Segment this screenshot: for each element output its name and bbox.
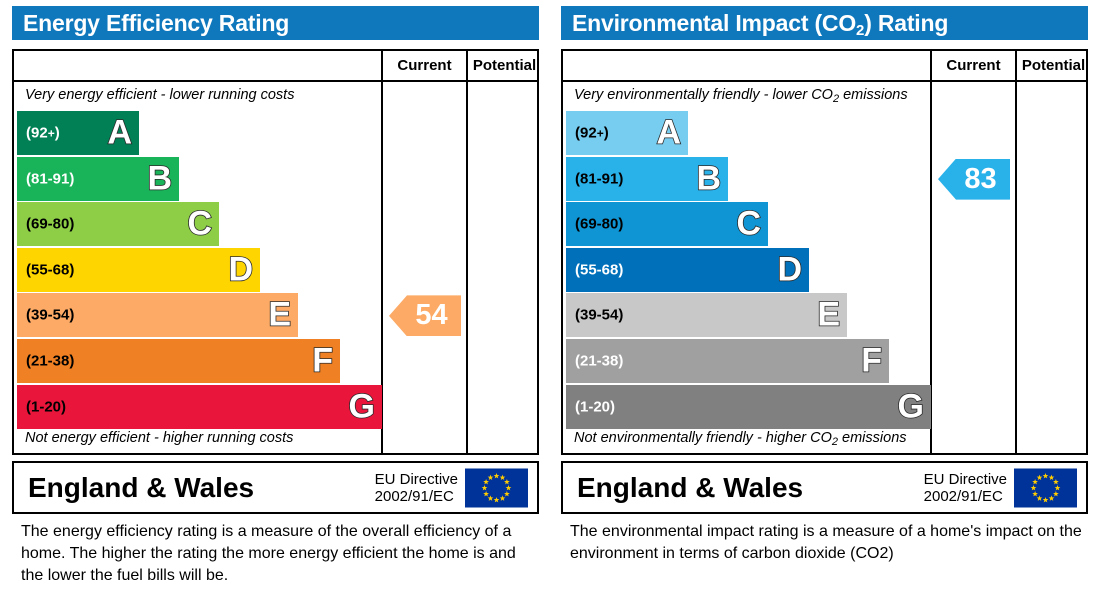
eu-directive-label: EU Directive 2002/91/EC: [375, 471, 458, 505]
current-column-header: Current: [932, 51, 1015, 80]
band-letter: C: [187, 207, 212, 241]
band-f: (21-38)F: [566, 339, 889, 383]
co2-band-area: Very environmentally friendly - lower CO…: [563, 82, 928, 455]
potential-column-divider: [1015, 51, 1017, 453]
note-bottom-pre: Not environmentally friendly - higher CO: [574, 430, 832, 446]
band-range-label: (1-20): [575, 398, 615, 415]
band-letter: E: [817, 298, 840, 332]
band-range-label: (92+): [575, 125, 609, 142]
note-top-friendly: Very environmentally friendly - lower CO…: [574, 87, 908, 103]
band-letter: A: [107, 115, 132, 149]
note-bottom-inefficient: Not energy efficient - higher running co…: [25, 430, 293, 446]
band-letter: D: [777, 252, 802, 286]
environmental-impact-panel: Environmental Impact (CO2) Rating Curren…: [555, 0, 1094, 613]
environmental-impact-title-suffix: ) Rating: [864, 10, 948, 36]
band-range-label: (81-91): [26, 170, 74, 187]
band-a: (92+)A: [566, 111, 688, 155]
note-top-post: emissions: [839, 87, 908, 103]
eu-flag-icon: [1014, 468, 1077, 507]
potential-column-divider: [466, 51, 468, 453]
band-letter: E: [268, 298, 291, 332]
band-letter: B: [696, 161, 721, 195]
band-g: (1-20)G: [17, 385, 382, 429]
co2-caption: The environmental impact rating is a mea…: [570, 521, 1090, 565]
environmental-impact-title-text: Environmental Impact (CO: [572, 10, 856, 36]
region-label: England & Wales: [28, 472, 254, 504]
energy-efficiency-title-text: Energy Efficiency Rating: [23, 10, 289, 36]
band-range-label: (69-80): [26, 216, 74, 233]
band-letter: G: [898, 389, 924, 423]
band-letter: A: [656, 115, 681, 149]
band-range-label: (39-54): [26, 307, 74, 324]
note-top-efficient: Very energy efficient - lower running co…: [25, 87, 294, 103]
band-e: (39-54)E: [17, 293, 298, 337]
band-e: (39-54)E: [566, 293, 847, 337]
energy-efficiency-grid: Current Potential Very energy efficient …: [12, 49, 539, 455]
note-bottom-sub: 2: [832, 436, 838, 448]
band-c: (69-80)C: [566, 202, 768, 246]
environmental-impact-grid: Current Potential Very environmentally f…: [561, 49, 1088, 455]
band-b: (81-91)B: [17, 157, 179, 201]
band-d: (55-68)D: [17, 248, 260, 292]
band-range-label: (81-91): [575, 170, 623, 187]
co2-footer: England & Wales EU Directive 2002/91/EC: [561, 461, 1088, 514]
current-rating-arrow: 54: [389, 295, 461, 336]
region-label: England & Wales: [577, 472, 803, 504]
band-range-label: (55-68): [26, 261, 74, 278]
current-column-header: Current: [383, 51, 466, 80]
note-bottom-unfriendly: Not environmentally friendly - higher CO…: [574, 430, 907, 446]
band-range-label: (69-80): [575, 216, 623, 233]
energy-band-area: Very energy efficient - lower running co…: [14, 82, 379, 455]
energy-efficiency-title: Energy Efficiency Rating: [12, 6, 539, 40]
band-a: (92+)A: [17, 111, 139, 155]
energy-caption: The energy efficiency rating is a measur…: [21, 521, 541, 587]
band-letter: B: [147, 161, 172, 195]
band-range-label: (92+): [26, 125, 60, 142]
note-bottom-post: emissions: [838, 430, 907, 446]
eu-directive-line1: EU Directive: [375, 471, 458, 488]
eu-directive-line2: 2002/91/EC: [375, 488, 458, 505]
band-range-label: (1-20): [26, 398, 66, 415]
band-range-label: (21-38): [26, 353, 74, 370]
band-range-label: (21-38): [575, 353, 623, 370]
band-c: (69-80)C: [17, 202, 219, 246]
band-d: (55-68)D: [566, 248, 809, 292]
potential-column-header: Potential: [468, 51, 541, 80]
epc-chart-page: Energy Efficiency Rating Current Potenti…: [0, 0, 1098, 613]
eu-directive-line2: 2002/91/EC: [924, 488, 1007, 505]
band-letter: G: [349, 389, 375, 423]
eu-directive-line1: EU Directive: [924, 471, 1007, 488]
band-f: (21-38)F: [17, 339, 340, 383]
band-range-label: (55-68): [575, 261, 623, 278]
band-letter: F: [312, 343, 333, 377]
environmental-impact-title-sub: 2: [856, 22, 864, 39]
band-range-label: (39-54): [575, 307, 623, 324]
note-top-pre: Very environmentally friendly - lower CO: [574, 87, 833, 103]
eu-directive-label: EU Directive 2002/91/EC: [924, 471, 1007, 505]
current-rating-arrow: 83: [938, 159, 1010, 200]
energy-efficiency-panel: Energy Efficiency Rating Current Potenti…: [6, 0, 545, 613]
band-letter: D: [228, 252, 253, 286]
band-g: (1-20)G: [566, 385, 931, 429]
potential-column-header: Potential: [1017, 51, 1090, 80]
band-letter: C: [736, 207, 761, 241]
environmental-impact-title: Environmental Impact (CO2) Rating: [561, 6, 1088, 40]
band-letter: F: [861, 343, 882, 377]
band-b: (81-91)B: [566, 157, 728, 201]
energy-footer: England & Wales EU Directive 2002/91/EC: [12, 461, 539, 514]
eu-flag-icon: [465, 468, 528, 507]
note-top-sub: 2: [833, 93, 839, 105]
